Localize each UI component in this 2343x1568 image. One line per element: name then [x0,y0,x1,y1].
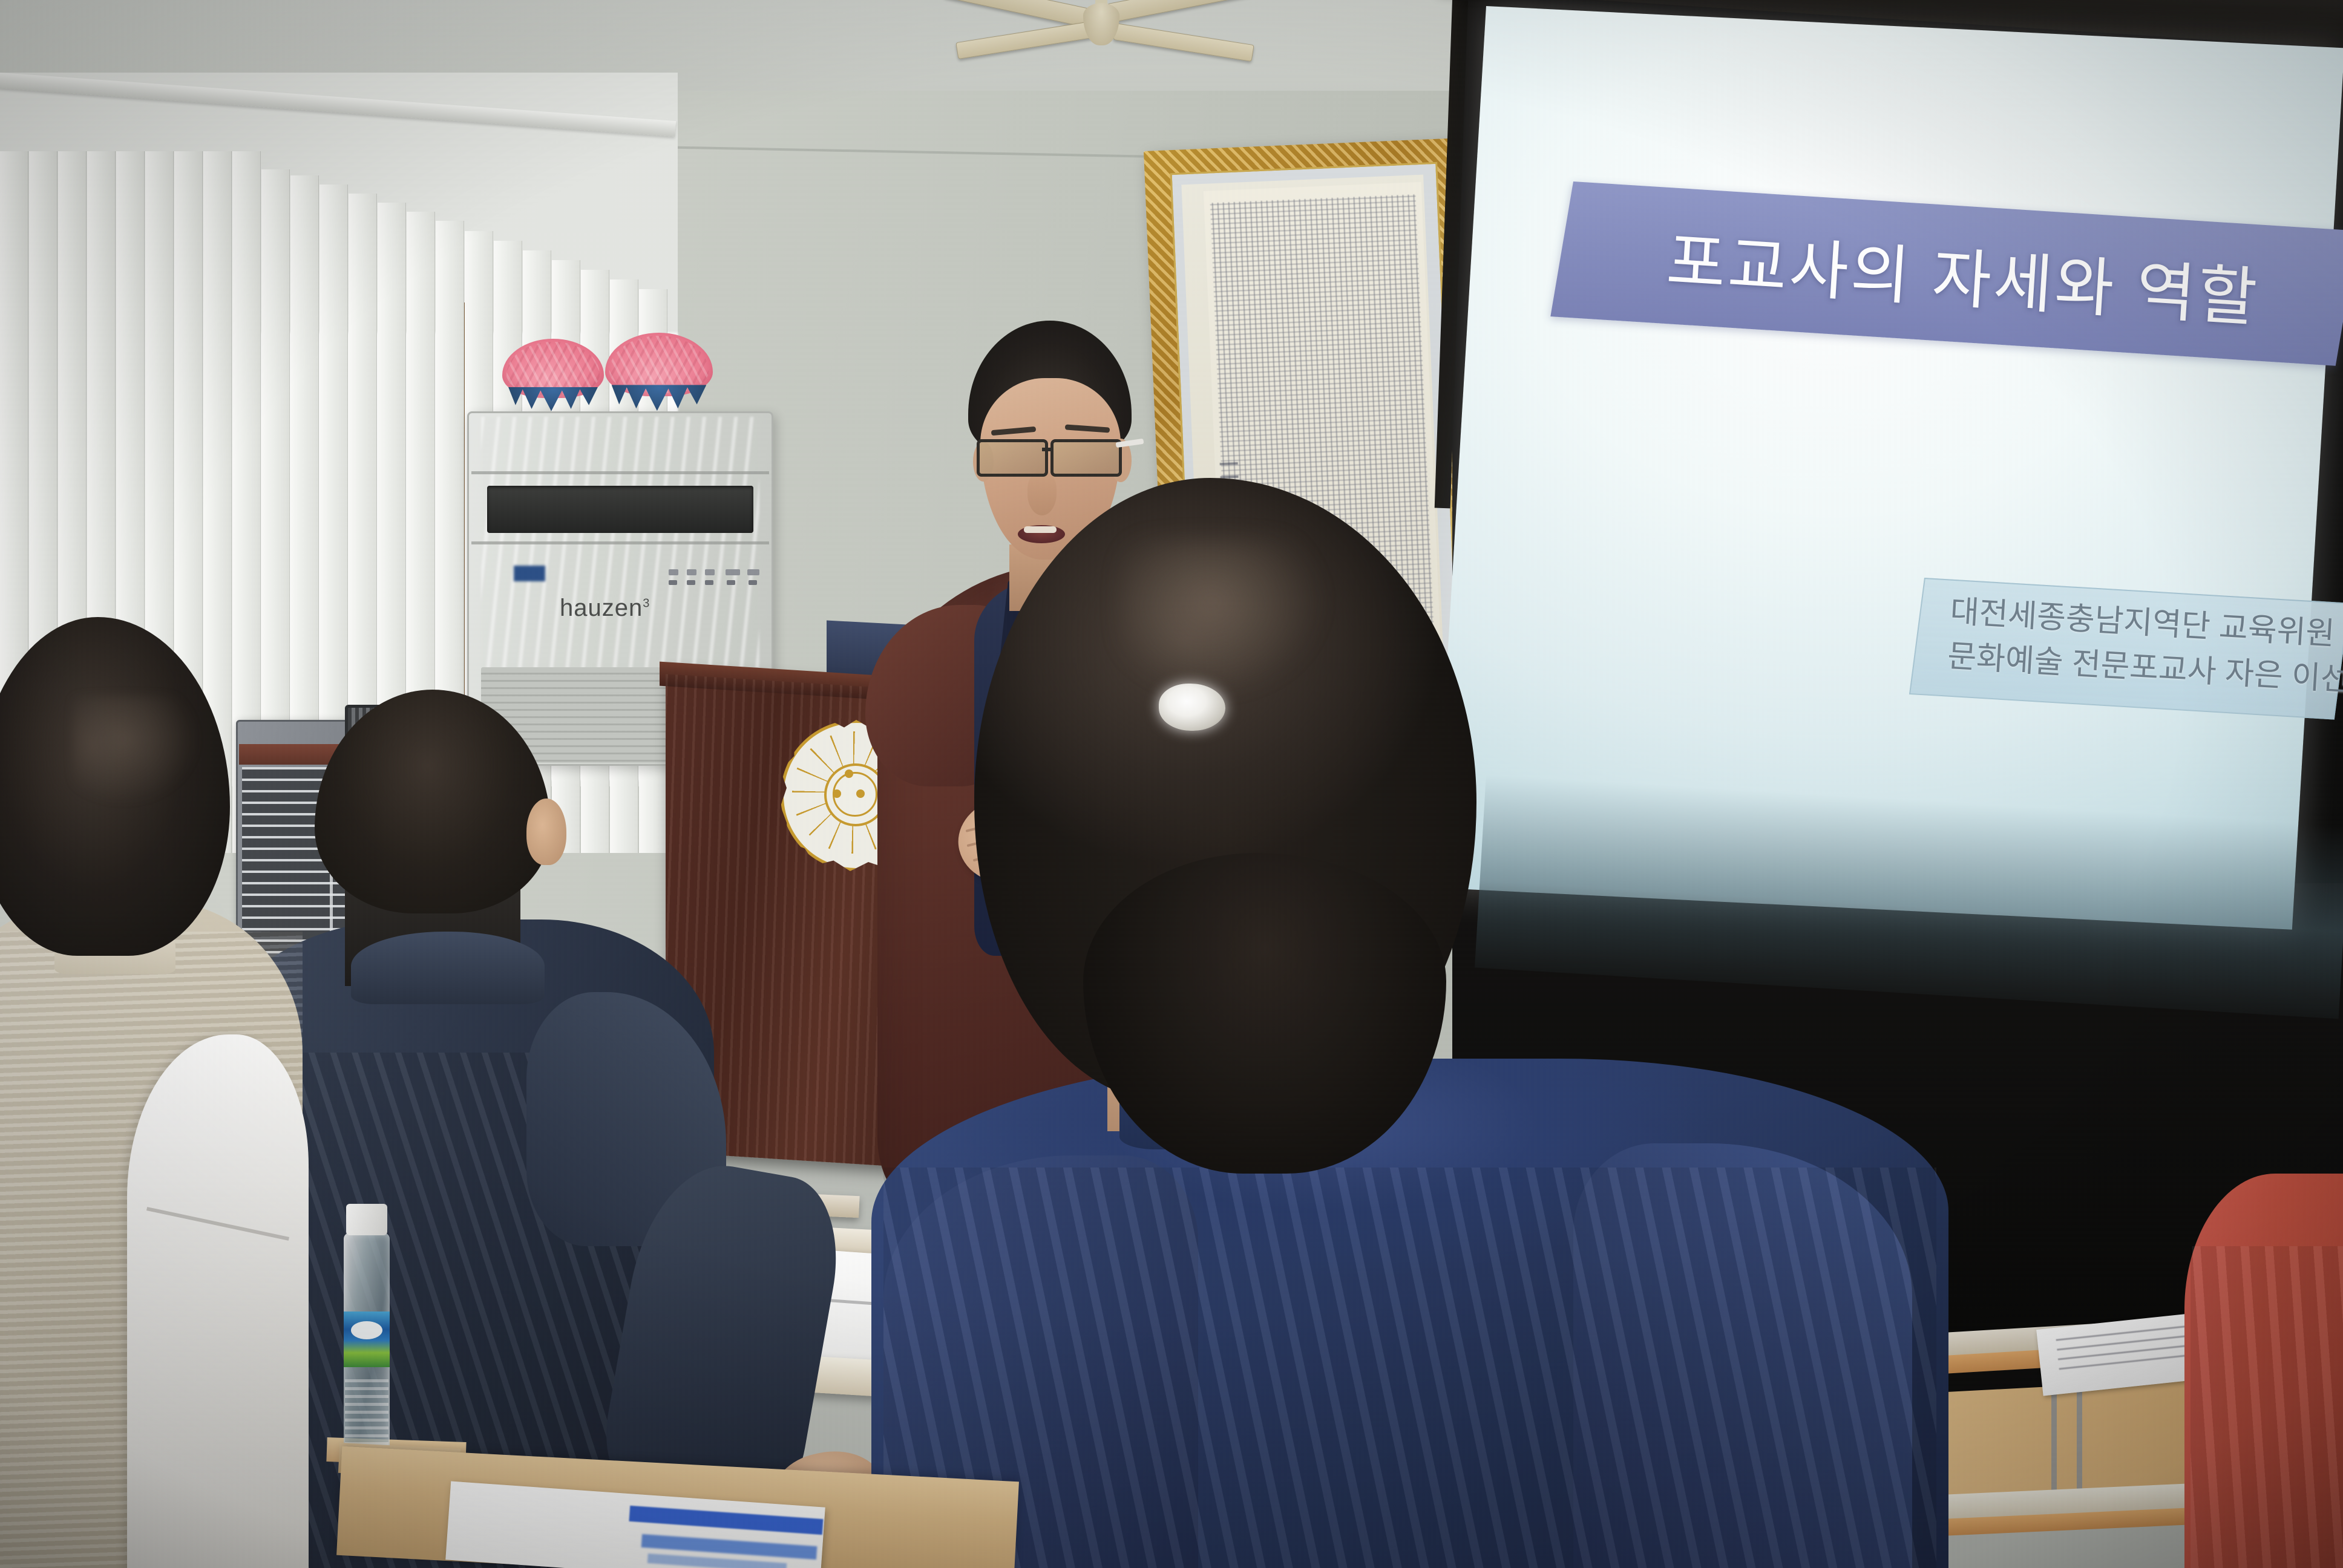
lotus-base [508,387,598,414]
fan-blade [955,21,1097,59]
ac-button-label [727,580,735,585]
lotus-base [612,385,707,414]
ac-button[interactable] [669,569,678,575]
ac-button-label [669,580,677,585]
bottle-label [344,1312,390,1367]
bottle-grip-ribs [345,1379,388,1452]
ac-panel-seam [471,541,769,544]
ac-panel-seam [471,471,769,474]
hair-highlight [73,696,200,805]
white-shirt-sleeve [127,1034,309,1568]
ac-button[interactable] [705,569,715,575]
lotus-emblem-seed [845,769,853,778]
lotus-lantern [605,333,713,414]
knit-fabric-folds [883,1168,1936,1568]
ceiling-fan [932,0,1271,67]
eyeglass-bridge [1042,448,1052,451]
audience-member-center [920,478,1936,1568]
fan-blade [1113,23,1254,62]
bottle-cap[interactable] [346,1204,387,1235]
ac-button-row[interactable] [669,569,759,596]
ac-button-label [687,580,695,585]
ac-button[interactable] [726,569,740,575]
water-bottle[interactable] [344,1204,390,1458]
ac-button-label [705,580,713,585]
eyeglass-lens-right [1050,439,1122,477]
lotus-emblem-seed [856,789,865,798]
ac-brand-label: hauzen3 [560,595,693,625]
ac-button-label [749,580,757,585]
lecture-room-photograph: hauzen3 포교사의 자세와 역할 대전세종충남지역단 교육위원 문화예술 … [0,0,2343,1568]
audience-member-front-left [0,617,387,1568]
ac-button[interactable] [687,569,696,575]
fan-blade [1107,0,1260,23]
audience-hair-lower-mass [1083,853,1446,1174]
garment-fabric-folds [2191,1246,2343,1568]
eyeglass-lens-left [977,439,1048,477]
lotus-lantern [502,339,604,414]
eyeglasses-icon [973,436,1136,478]
ac-led-indicator [514,566,545,581]
hair-highlight [1119,538,1325,696]
ac-button[interactable] [747,569,759,575]
audience-ear [526,799,566,865]
ac-display-panel[interactable] [487,486,753,533]
bottle-label-logo [351,1321,382,1339]
hair-clip [1159,684,1225,731]
